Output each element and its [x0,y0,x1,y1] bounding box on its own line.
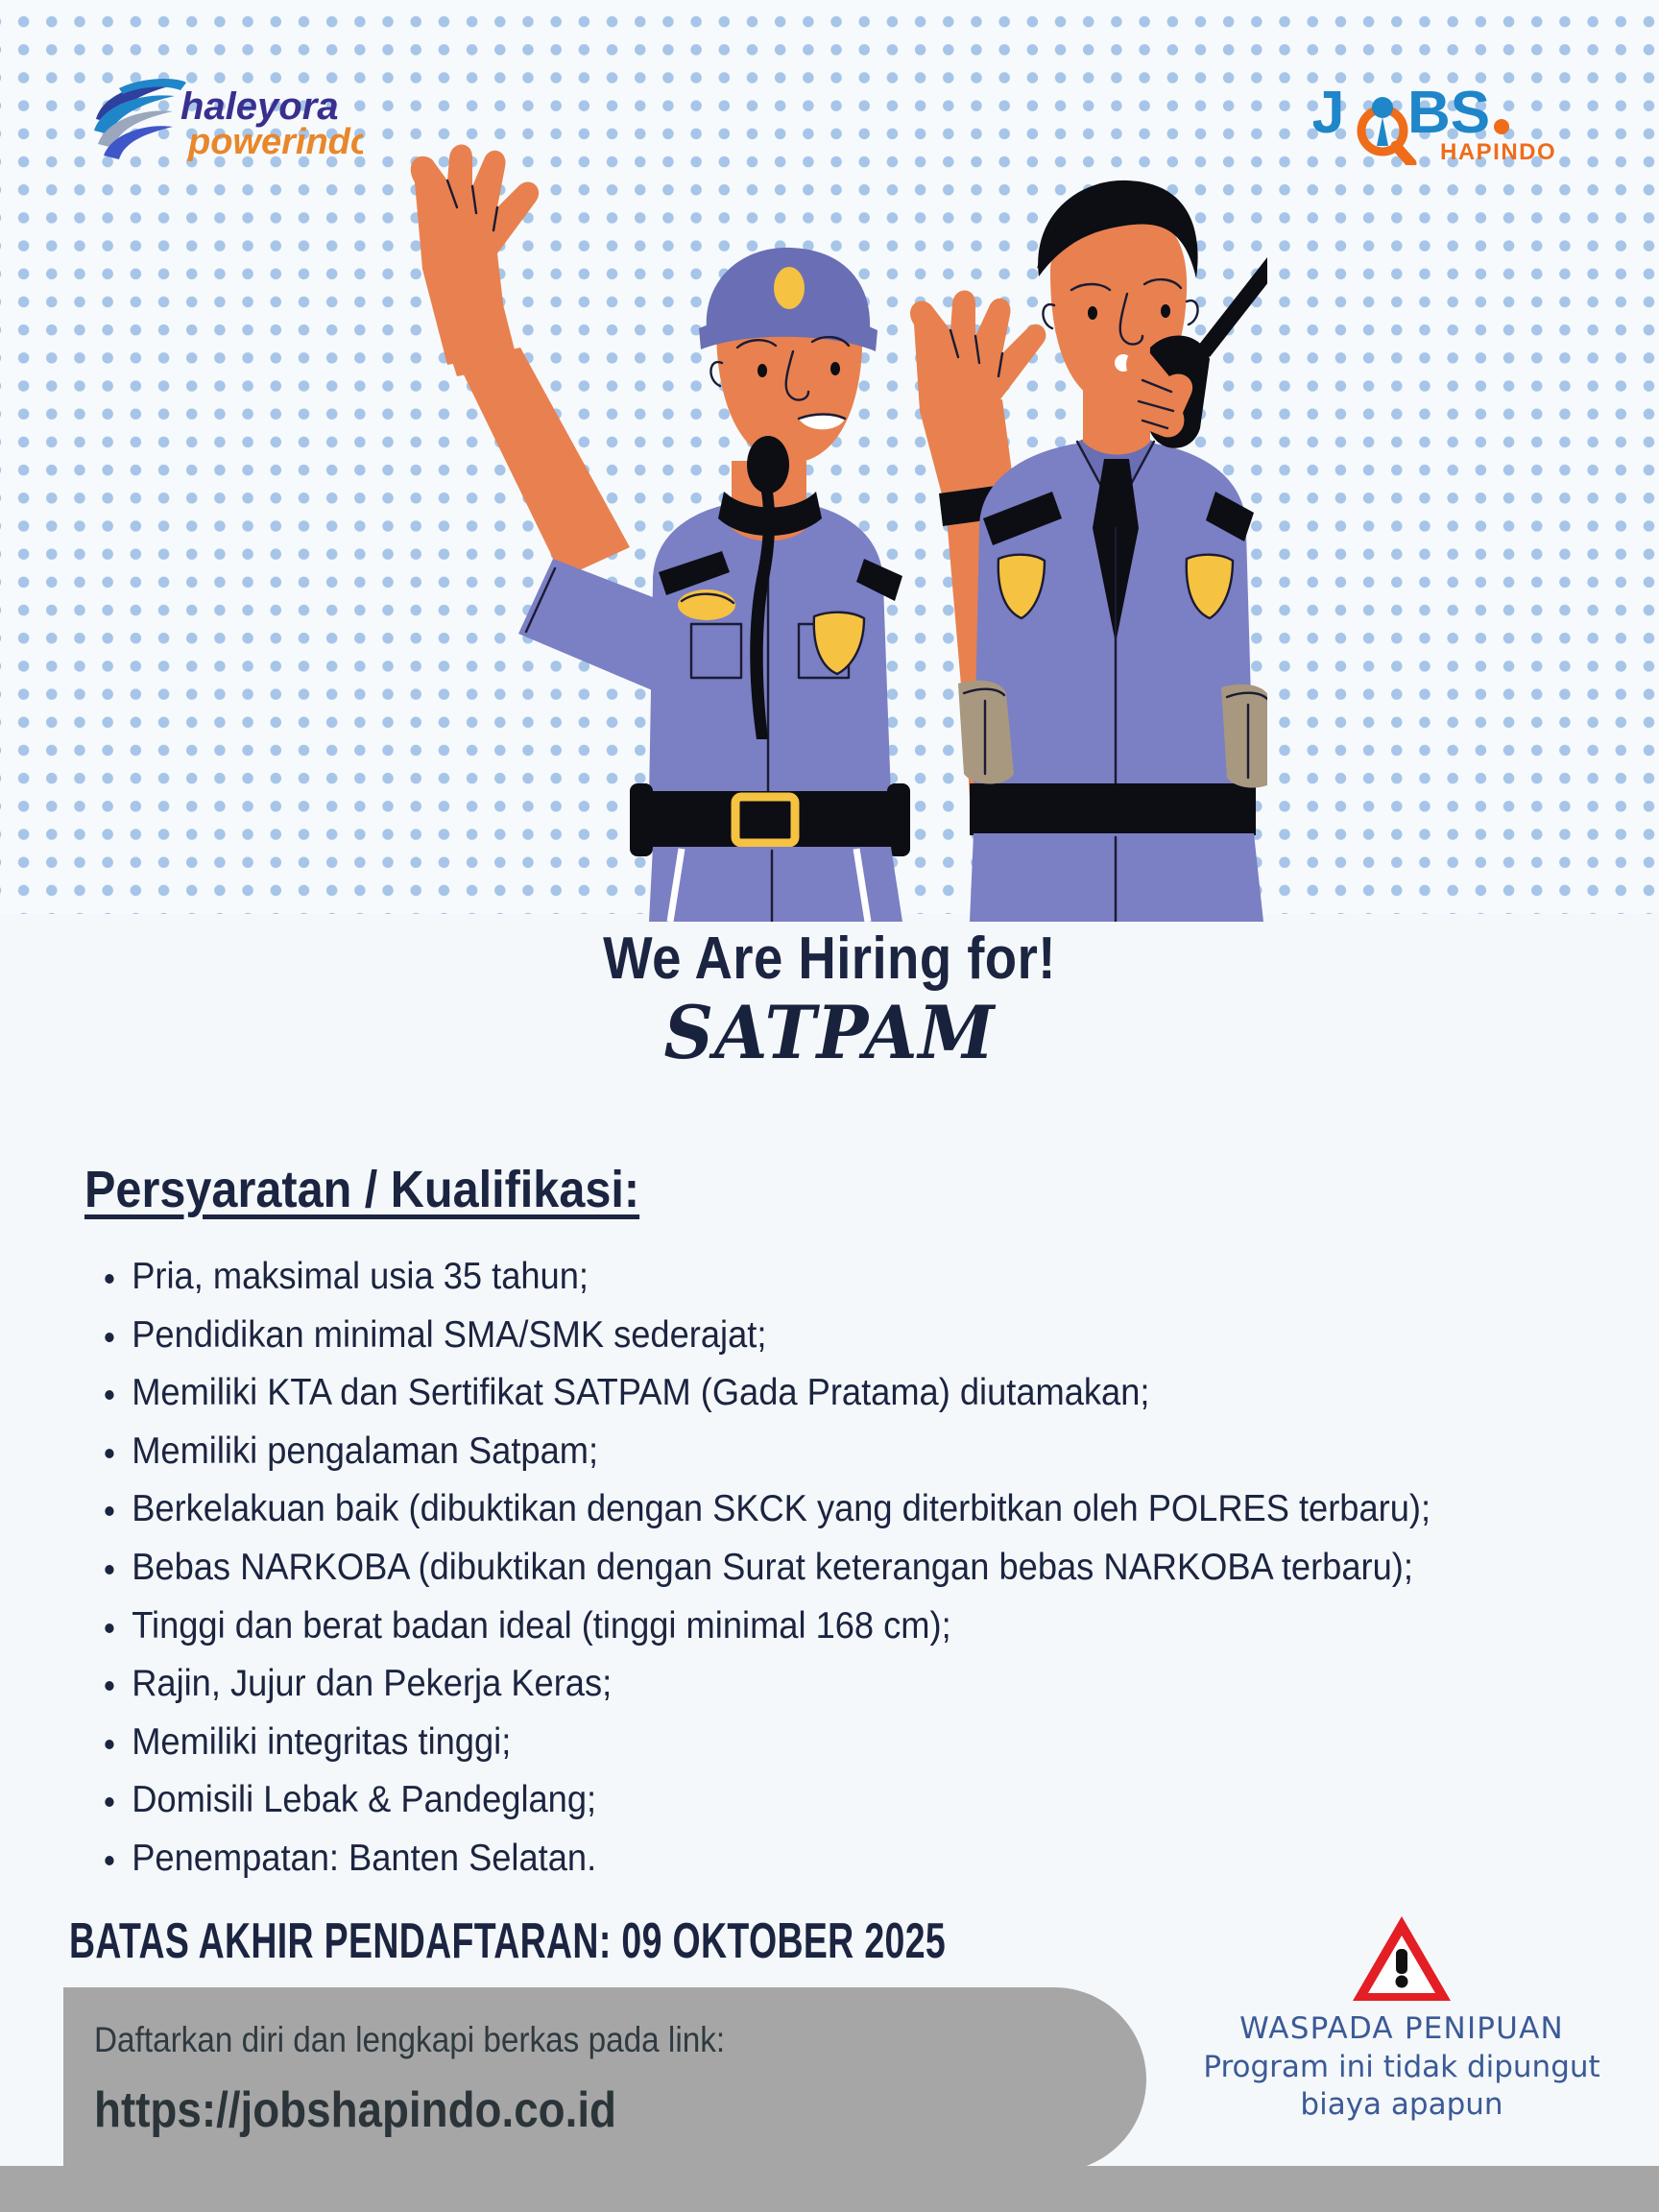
logo-text-hapindo: HAPINDO [1440,139,1556,165]
magnifier-person-icon [1361,97,1411,163]
apply-instruction: Daftarkan diri dan lengkapi berkas pada … [94,2020,725,2060]
list-item: Bebas NARKOBA (dibuktikan dengan Surat k… [96,1549,1506,1586]
list-item: Memiliki KTA dan Sertifikat SATPAM (Gada… [96,1374,1506,1411]
fraud-warning-line-1: Program ini tidak dipungut [1183,2049,1621,2087]
jobs-hapindo-logo: J BS HAPINDO [1313,77,1563,165]
hiring-headline: We Are Hiring for! [100,929,1560,989]
fraud-warning-block: WASPADA PENIPUAN Program ini tidak dipun… [1183,1912,1621,2125]
job-vacancy-poster: haleyora powerindo J BS HAPINDO .skin{fi… [0,0,1659,2212]
requirements-list: Pria, maksimal usia 35 tahun; Pendidikan… [96,1258,1613,1898]
fraud-warning-line-2: biaya apapun [1183,2086,1621,2125]
list-item: Pendidikan minimal SMA/SMK sederajat; [96,1316,1506,1354]
warning-triangle-icon [1349,1912,1455,2005]
logo-text-bs: BS [1407,80,1490,146]
fraud-warning-heading: WASPADA PENIPUAN [1183,2010,1621,2049]
swoosh-icon [94,79,186,159]
footer-accent-bar [0,2166,1659,2212]
list-item: Domisili Lebak & Pandeglang; [96,1781,1506,1818]
list-item: Memiliki pengalaman Satpam; [96,1432,1506,1470]
apply-url-link[interactable]: https://jobshapindo.co.id [94,2081,616,2139]
list-item: Berkelakuan baik (dibuktikan dengan SKCK… [96,1490,1506,1527]
list-item: Penempatan: Banten Selatan. [96,1839,1506,1877]
registration-deadline: BATAS AKHIR PENDAFTARAN: 09 OKTOBER 2025 [69,1912,946,1970]
requirements-heading: Persyaratan / Kualifikasi: [84,1160,639,1219]
list-item: Pria, maksimal usia 35 tahun; [96,1258,1506,1295]
job-position-title: SATPAM [50,995,1609,1071]
list-item: Memiliki integritas tinggi; [96,1723,1506,1761]
list-item: Rajin, Jujur dan Pekerja Keras; [96,1665,1506,1702]
two-security-guards-illustration: .skin{fill:#e8814f;} .uni{fill:#7b7fc4;}… [365,125,1267,922]
haleyora-powerindo-logo: haleyora powerindo [84,69,363,165]
apply-link-banner[interactable]: Daftarkan diri dan lengkapi berkas pada … [63,1987,1146,2172]
guard-right [910,180,1267,922]
logo-text-j: J [1313,80,1344,146]
logo-text-powerindo: powerindo [187,122,363,162]
logo-dot-icon [1494,119,1509,134]
list-item: Tinggi dan berat badan ideal (tinggi min… [96,1607,1506,1645]
headline-block: We Are Hiring for! SATPAM [0,929,1659,1071]
guard-left [411,145,910,923]
